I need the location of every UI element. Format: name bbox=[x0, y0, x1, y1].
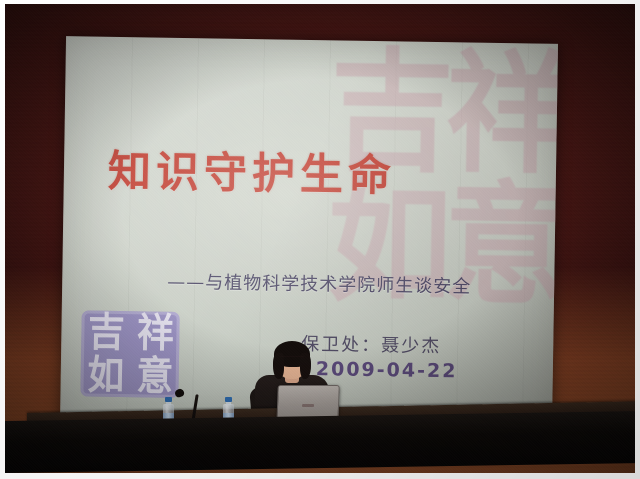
glasses-icon bbox=[280, 356, 304, 363]
laptop-logo bbox=[302, 404, 314, 407]
lecture-hall-scene: 吉 祥 如 意 知识守护生命 ——与植物科学技术学院师生谈安全 保卫处：聂少杰 … bbox=[5, 4, 635, 473]
bottle-cap bbox=[225, 397, 232, 402]
bottle-cap bbox=[165, 397, 172, 402]
photograph: 吉 祥 如 意 知识守护生命 ——与植物科学技术学院师生谈安全 保卫处：聂少杰 … bbox=[0, 0, 640, 479]
table-front-panel bbox=[5, 411, 635, 473]
photo-frame: 吉 祥 如 意 知识守护生命 ——与植物科学技术学院师生谈安全 保卫处：聂少杰 … bbox=[0, 0, 640, 479]
